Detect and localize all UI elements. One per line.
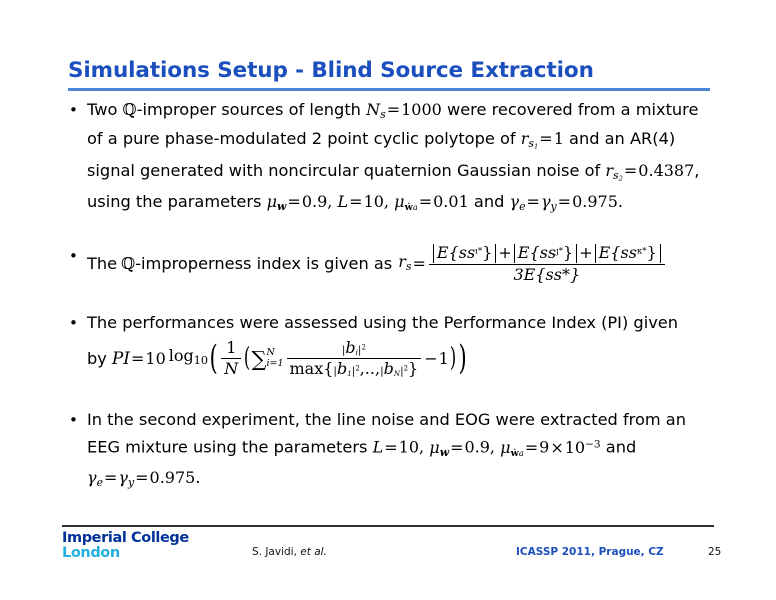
plus-sign: + bbox=[578, 243, 593, 262]
symbol-rs2: rs2 bbox=[605, 161, 623, 180]
value-gamma: 0.975 bbox=[572, 192, 618, 211]
times-sign: × bbox=[549, 438, 564, 457]
text-fragment: Two bbox=[87, 100, 117, 119]
symbol-rs: rs bbox=[398, 250, 411, 279]
equals-sign: = bbox=[386, 100, 401, 119]
symbol-mu-w: μw bbox=[267, 192, 287, 211]
symbol-gamma-e: γe bbox=[87, 468, 103, 487]
value-power-of-ten: 10−3 bbox=[565, 438, 601, 457]
footer-divider bbox=[62, 525, 714, 527]
logo-line-imperial-college: Imperial College bbox=[62, 531, 189, 546]
value-gamma: 0.975 bbox=[150, 468, 196, 487]
symbol-mu-wtilde-a: μẇa bbox=[394, 192, 418, 211]
expectation-term-i: E{ssı*} bbox=[433, 244, 497, 263]
outer-paren-open: ( bbox=[210, 348, 218, 369]
text-fragment: -improperness index is given as bbox=[135, 252, 392, 276]
imperial-college-logo: Imperial College London bbox=[62, 531, 189, 561]
footer-author: S. Javidi, et al. bbox=[252, 546, 327, 558]
bullet-performance-index-text: The performances were assessed using the… bbox=[87, 311, 716, 379]
equals-sign: = bbox=[623, 161, 638, 180]
list-item: • Theℚ-improperness index is given as rs… bbox=[66, 244, 716, 284]
one-over-N-fraction: 1 N bbox=[221, 339, 241, 379]
symbol-mu-w: μw bbox=[429, 438, 449, 457]
bullet-marker: • bbox=[66, 408, 87, 432]
symbol-Ns: Ns bbox=[366, 100, 386, 119]
value-rs1: 1 bbox=[554, 129, 564, 148]
outer-paren-close: ) bbox=[459, 348, 467, 369]
text-fragment: -improper sources of length bbox=[137, 100, 361, 119]
list-item: • In the second experiment, the line noi… bbox=[66, 408, 716, 494]
value-mu-wa-mantissa: 9 bbox=[539, 438, 549, 457]
symbol-mu-wtilde-a: μẇa bbox=[500, 438, 524, 457]
blackboard-q-symbol: ℚ bbox=[123, 100, 137, 119]
slide-body: • Two ℚ-improper sources of length Ns=10… bbox=[66, 96, 716, 495]
expectation-term-j: E{ssȷ*} bbox=[514, 244, 577, 263]
log-label: log10 bbox=[169, 344, 208, 373]
expectation-term-k: E{ssκ*} bbox=[595, 244, 661, 263]
value-one: 1 bbox=[439, 347, 449, 371]
text-fragment: and bbox=[606, 438, 636, 457]
value-L: 10 bbox=[364, 192, 384, 211]
equals-sign: = bbox=[286, 192, 301, 211]
symbol-L: L bbox=[373, 438, 384, 457]
value-mu-w: 0.9 bbox=[464, 438, 489, 457]
text-fragment: and bbox=[474, 192, 504, 211]
bullet-improperness-index-text: Theℚ-improperness index is given as rs= … bbox=[87, 244, 716, 284]
equals-sign: = bbox=[449, 438, 464, 457]
bullet-marker: • bbox=[66, 311, 87, 335]
performance-ratio-fraction: |bi|2 max{|b1|2,..,|bN|2} bbox=[287, 339, 422, 379]
footer-conference: ICASSP 2011, Prague, CZ bbox=[516, 546, 664, 558]
text-fragment: The bbox=[87, 252, 117, 276]
ratio-numerator: |bi|2 bbox=[287, 339, 422, 359]
value-mu-wa: 0.01 bbox=[433, 192, 469, 211]
equals-sign: = bbox=[103, 468, 118, 487]
author-name: S. Javidi, bbox=[252, 546, 297, 558]
title-underline-rule bbox=[68, 88, 710, 91]
equals-sign: = bbox=[134, 468, 149, 487]
text-fragment: The performances were assessed using the… bbox=[87, 311, 716, 335]
blackboard-q-symbol: ℚ bbox=[121, 252, 135, 276]
list-item: • The performances were assessed using t… bbox=[66, 311, 716, 379]
symbol-gamma-y: γy bbox=[118, 468, 134, 487]
symbol-L: L bbox=[338, 192, 349, 211]
minus-sign: − bbox=[423, 347, 438, 371]
symbol-PI: PI bbox=[112, 347, 130, 371]
value-ten: 10 bbox=[145, 347, 165, 371]
equals-sign: = bbox=[524, 438, 539, 457]
improperness-denominator: 3E{ss*} bbox=[429, 265, 665, 284]
inner-paren-open: ( bbox=[244, 350, 250, 366]
bullet-marker: • bbox=[66, 244, 87, 268]
value-rs2: 0.4387 bbox=[638, 161, 694, 180]
summation-icon: ∑ bbox=[251, 347, 266, 371]
equals-sign: = bbox=[383, 438, 398, 457]
equals-sign: = bbox=[526, 192, 541, 211]
symbol-gamma-e: γe bbox=[510, 192, 526, 211]
performance-index-equation: by PI=10log10 ( 1 N ( ∑Ni=1 |bi|2 max{|b… bbox=[87, 339, 716, 379]
ratio-denominator: max{|b1|2,..,|bN|2} bbox=[287, 359, 422, 378]
bullet-sources-text: Two ℚ-improper sources of length Ns=1000… bbox=[87, 98, 716, 220]
bullet-marker: • bbox=[66, 98, 87, 122]
value-Ns: 1000 bbox=[401, 100, 442, 119]
equals-sign: = bbox=[411, 252, 426, 276]
equals-sign: = bbox=[557, 192, 572, 211]
value-L: 10 bbox=[399, 438, 419, 457]
footer-page-number: 25 bbox=[708, 546, 721, 558]
summation-limits: Ni=1 bbox=[266, 348, 283, 369]
text-fragment: by bbox=[87, 347, 107, 371]
plus-sign: + bbox=[497, 243, 512, 262]
logo-line-london: London bbox=[62, 546, 189, 561]
symbol-rs1: rs1 bbox=[521, 129, 539, 148]
value-mu-w: 0.9 bbox=[302, 192, 327, 211]
author-etal: et al. bbox=[300, 546, 327, 558]
improperness-index-fraction: E{ssı*}+E{ssȷ*}+E{ssκ*} 3E{ss*} bbox=[429, 244, 665, 284]
equals-sign: = bbox=[418, 192, 433, 211]
inner-paren-close: ) bbox=[450, 350, 456, 366]
equals-sign: = bbox=[348, 192, 363, 211]
list-item: • Two ℚ-improper sources of length Ns=10… bbox=[66, 98, 716, 220]
equals-sign: = bbox=[538, 129, 553, 148]
equals-sign: = bbox=[130, 347, 145, 371]
symbol-gamma-y: γy bbox=[541, 192, 557, 211]
bullet-second-experiment-text: In the second experiment, the line noise… bbox=[87, 408, 716, 494]
page-title: Simulations Setup - Blind Source Extract… bbox=[68, 58, 594, 83]
